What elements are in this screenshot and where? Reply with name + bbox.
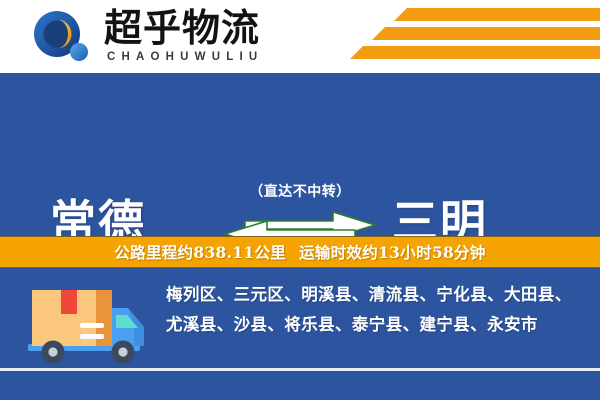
logistics-route-banner: 超乎物流 CHAOHUWULIU 常德 （直达不中转） 【往返运输】 三: [0, 0, 600, 400]
decorative-stripes: [350, 8, 600, 68]
coverage-panel: 梅列区、三元区、明溪县、清流县、宁化县、大田县、 尤溪县、沙县、将乐县、泰宁县、…: [0, 268, 600, 400]
coverage-line-1: 梅列区、三元区、明溪县、清流县、宁化县、大田县、: [166, 280, 586, 310]
brand-name-en: CHAOHUWULIU: [107, 50, 263, 64]
stripe-2: [372, 27, 600, 40]
brand-name-cn: 超乎物流: [104, 7, 263, 49]
stripe-3: [350, 46, 600, 59]
duration-text: 运输时效约13小时58分钟: [299, 241, 486, 263]
banner-header: 超乎物流 CHAOHUWULIU: [0, 0, 600, 73]
coverage-line-2: 尤溪县、沙县、将乐县、泰宁县、建宁县、永安市: [166, 310, 586, 340]
direct-route-note: （直达不中转）: [215, 183, 385, 201]
delivery-truck-icon: [24, 282, 152, 368]
distance-text: 公路里程约838.11公里: [114, 241, 286, 263]
route-info-bar: 公路里程约838.11公里 运输时效约13小时58分钟: [0, 236, 600, 268]
bottom-divider: [0, 368, 600, 371]
coverage-area-list: 梅列区、三元区、明溪县、清流县、宁化县、大田县、 尤溪县、沙县、将乐县、泰宁县、…: [166, 280, 586, 340]
brand-text: 超乎物流 CHAOHUWULIU: [104, 7, 263, 64]
route-panel: 常德 （直达不中转） 【往返运输】 三明: [0, 73, 600, 236]
circle-q-logo-icon: [26, 10, 98, 64]
stripe-1: [394, 8, 600, 21]
